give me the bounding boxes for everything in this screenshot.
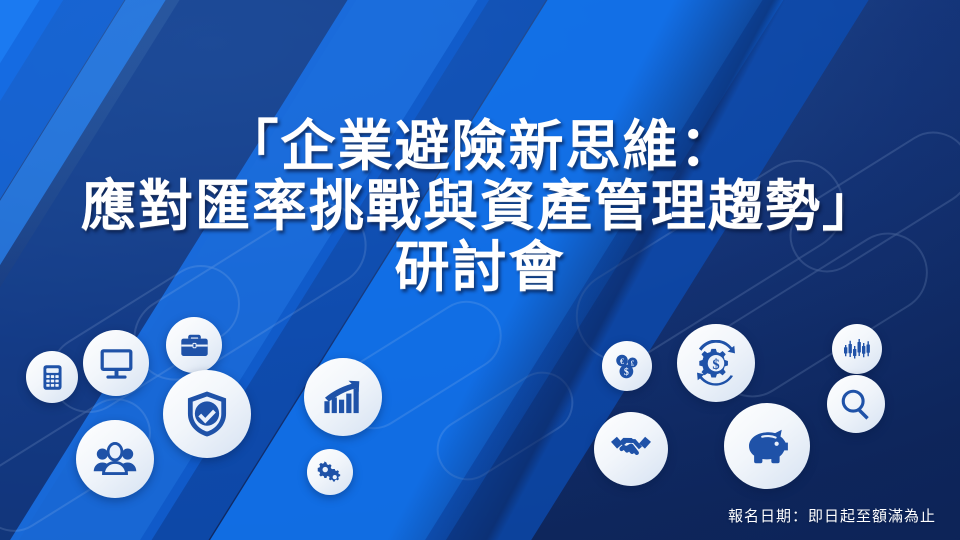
title-line-2: 應對匯率挑戰與資產管理趨勢」 [0, 178, 960, 236]
growth-chart-icon [304, 358, 382, 436]
piggy-bank-icon [724, 403, 810, 489]
briefcase-icon [166, 317, 222, 373]
svg-text:$: $ [624, 367, 629, 378]
svg-text:€: € [620, 357, 624, 366]
gear-dollar-icon: $ [677, 324, 755, 402]
seminar-banner: €£$$ 「企業避險新思維： 應對匯率挑戰與資產管理趨勢」 研討會 報名日期：即… [0, 0, 960, 540]
gears-icon [307, 449, 353, 495]
shield-check-icon [163, 370, 251, 458]
pill-outline [425, 360, 585, 492]
magnifier-icon [827, 375, 885, 433]
title-line-3: 研討會 [0, 239, 960, 297]
svg-text:$: $ [712, 357, 719, 373]
currency-coins-icon: €£$ [602, 341, 652, 391]
candlestick-chart-icon [832, 324, 882, 374]
calculator-icon [26, 351, 78, 403]
handshake-icon [594, 412, 668, 486]
people-group-icon [76, 420, 154, 498]
svg-text:£: £ [631, 359, 635, 367]
monitor-icon [83, 330, 149, 396]
registration-period-note: 報名日期：即日起至額滿為止 [728, 505, 936, 526]
title-line-1: 「企業避險新思維： [0, 118, 960, 176]
title-block: 「企業避險新思維： 應對匯率挑戰與資產管理趨勢」 研討會 [0, 118, 960, 297]
